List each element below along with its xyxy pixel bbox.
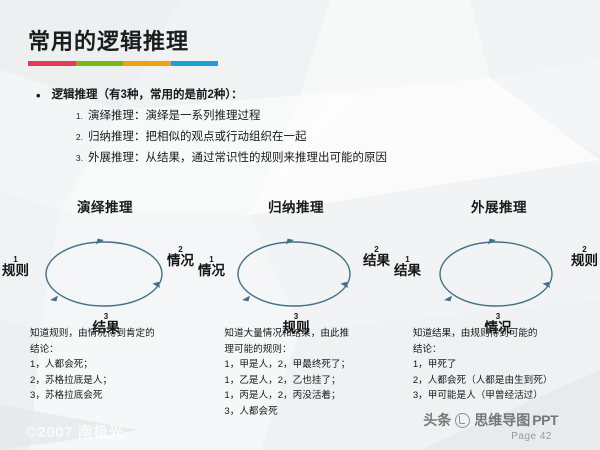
lead-bullet: • 逻辑推理（有3种，常用的是前2种）： [32,88,572,102]
cycle-diagram: 1 规则 2 情况 3 结果 [0,220,196,328]
cycle-node-label: 结果 [363,254,390,269]
slide-title-block: 常用的逻辑推理 [28,30,218,66]
diagram-column-abductive: 外展推理 1 结果 2 规则 3 情 [392,196,600,328]
diagram-columns: 演绎推理 1 规则 2 情况 3 结 [0,196,600,328]
lead-bullet-text: 逻辑推理（有3种，常用的是前2种）： [52,88,243,102]
cycle-node-1: 1 规则 [2,256,29,279]
cycle-node-1: 1 结果 [394,256,421,279]
brand-name: 思维导图 [474,410,530,430]
list-item-text: 归纳推理：把相似的观点或行动组织在一起 [88,127,307,148]
numbered-list: 1. 演绎推理：演绎是一系列推理过程 2. 归纳推理：把相似的观点或行动组织在一… [32,106,572,169]
cycle-node-1: 1 情况 [198,256,225,279]
description-abductive: 知道结果，由规则得到可能的 结论： 1，甲死了 2，人都会死（人都是由生到死） … [401,326,600,419]
checkmark-badge-icon [455,413,470,428]
list-item-number: 1. [72,109,83,124]
column-heading: 归纳推理 [196,196,392,216]
cycle-diagram: 1 情况 2 结果 3 规则 [196,220,392,328]
cycle-node-2: 2 规则 [571,246,598,269]
channel-name: 头条 [423,410,451,430]
page-title: 常用的逻辑推理 [28,30,218,54]
accent-segment-3 [123,61,171,66]
description-inductive: 知道大量情况和结果，由此推 理可能的规则： 1，甲是人，2，甲最终死了； 1，乙… [206,326,400,419]
channel-watermark: 头条 思维导图 PPT [423,410,558,430]
cycle-node-label: 规则 [571,254,598,269]
cycle-node-label: 规则 [2,264,29,279]
list-item-number: 2. [72,130,83,145]
list-item-text: 演绎推理：演绎是一系列推理过程 [88,106,261,127]
diagram-column-inductive: 归纳推理 1 情况 2 结果 3 规 [196,196,392,328]
cycle-node-label: 结果 [394,264,421,279]
list-item: 2. 归纳推理：把相似的观点或行动组织在一起 [72,127,572,148]
cycle-node-label: 情况 [167,254,194,269]
title-accent-bar [28,61,218,66]
diagram-column-deductive: 演绎推理 1 规则 2 情况 3 结 [0,196,196,328]
cycle-node-2: 2 情况 [167,246,194,269]
bullet-block: • 逻辑推理（有3种，常用的是前2种）： 1. 演绎推理：演绎是一系列推理过程 … [32,88,572,169]
page-number: Page 42 [511,431,552,442]
bullet-dot-icon: • [36,88,41,102]
accent-segment-2 [76,61,124,66]
brand-suffix: PPT [532,412,558,428]
cycle-node-2: 2 结果 [363,246,390,269]
column-heading: 外展推理 [392,196,600,216]
list-item-text: 外展推理：从结果，通过常识性的规则来推理出可能的原因 [88,148,387,169]
list-item: 1. 演绎推理：演绎是一系列推理过程 [72,106,572,127]
copyright-watermark: ©2007 南极光 [26,421,124,442]
accent-segment-4 [171,61,219,66]
list-item: 3. 外展推理：从结果，通过常识性的规则来推理出可能的原因 [72,148,572,169]
list-item-number: 3. [72,151,83,166]
column-heading: 演绎推理 [0,196,196,216]
description-deductive: 知道规则，由情况得到肯定的 结论： 1，人都会死； 2，苏格拉底是人； 3，苏格… [0,326,206,419]
accent-segment-1 [28,61,76,66]
cycle-diagram: 1 结果 2 规则 3 情况 [392,220,600,328]
description-row: 知道规则，由情况得到肯定的 结论： 1，人都会死； 2，苏格拉底是人； 3，苏格… [0,326,600,419]
cycle-node-label: 情况 [198,264,225,279]
